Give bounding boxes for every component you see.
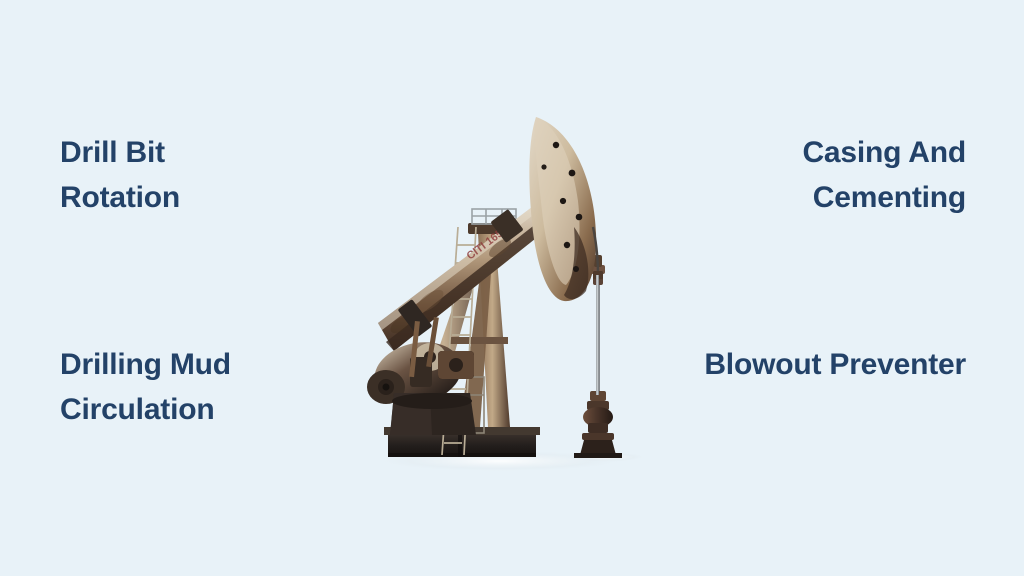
oil-pumpjack-illustration: CITI 1657 <box>360 105 660 480</box>
slide-canvas: Drill Bit Rotation Casing And Cementing … <box>0 0 1024 576</box>
counterweight-crank <box>367 335 476 435</box>
polished-rod <box>596 275 599 395</box>
label-drilling-mud-circulation: Drilling Mud Circulation <box>60 342 231 432</box>
horsehead <box>529 117 596 301</box>
walking-beam: CITI 1657 <box>378 207 550 351</box>
label-casing-and-cementing: Casing And Cementing <box>802 130 966 220</box>
label-drill-bit-rotation: Drill Bit Rotation <box>60 130 180 220</box>
label-blowout-preventer: Blowout Preventer <box>704 342 966 387</box>
